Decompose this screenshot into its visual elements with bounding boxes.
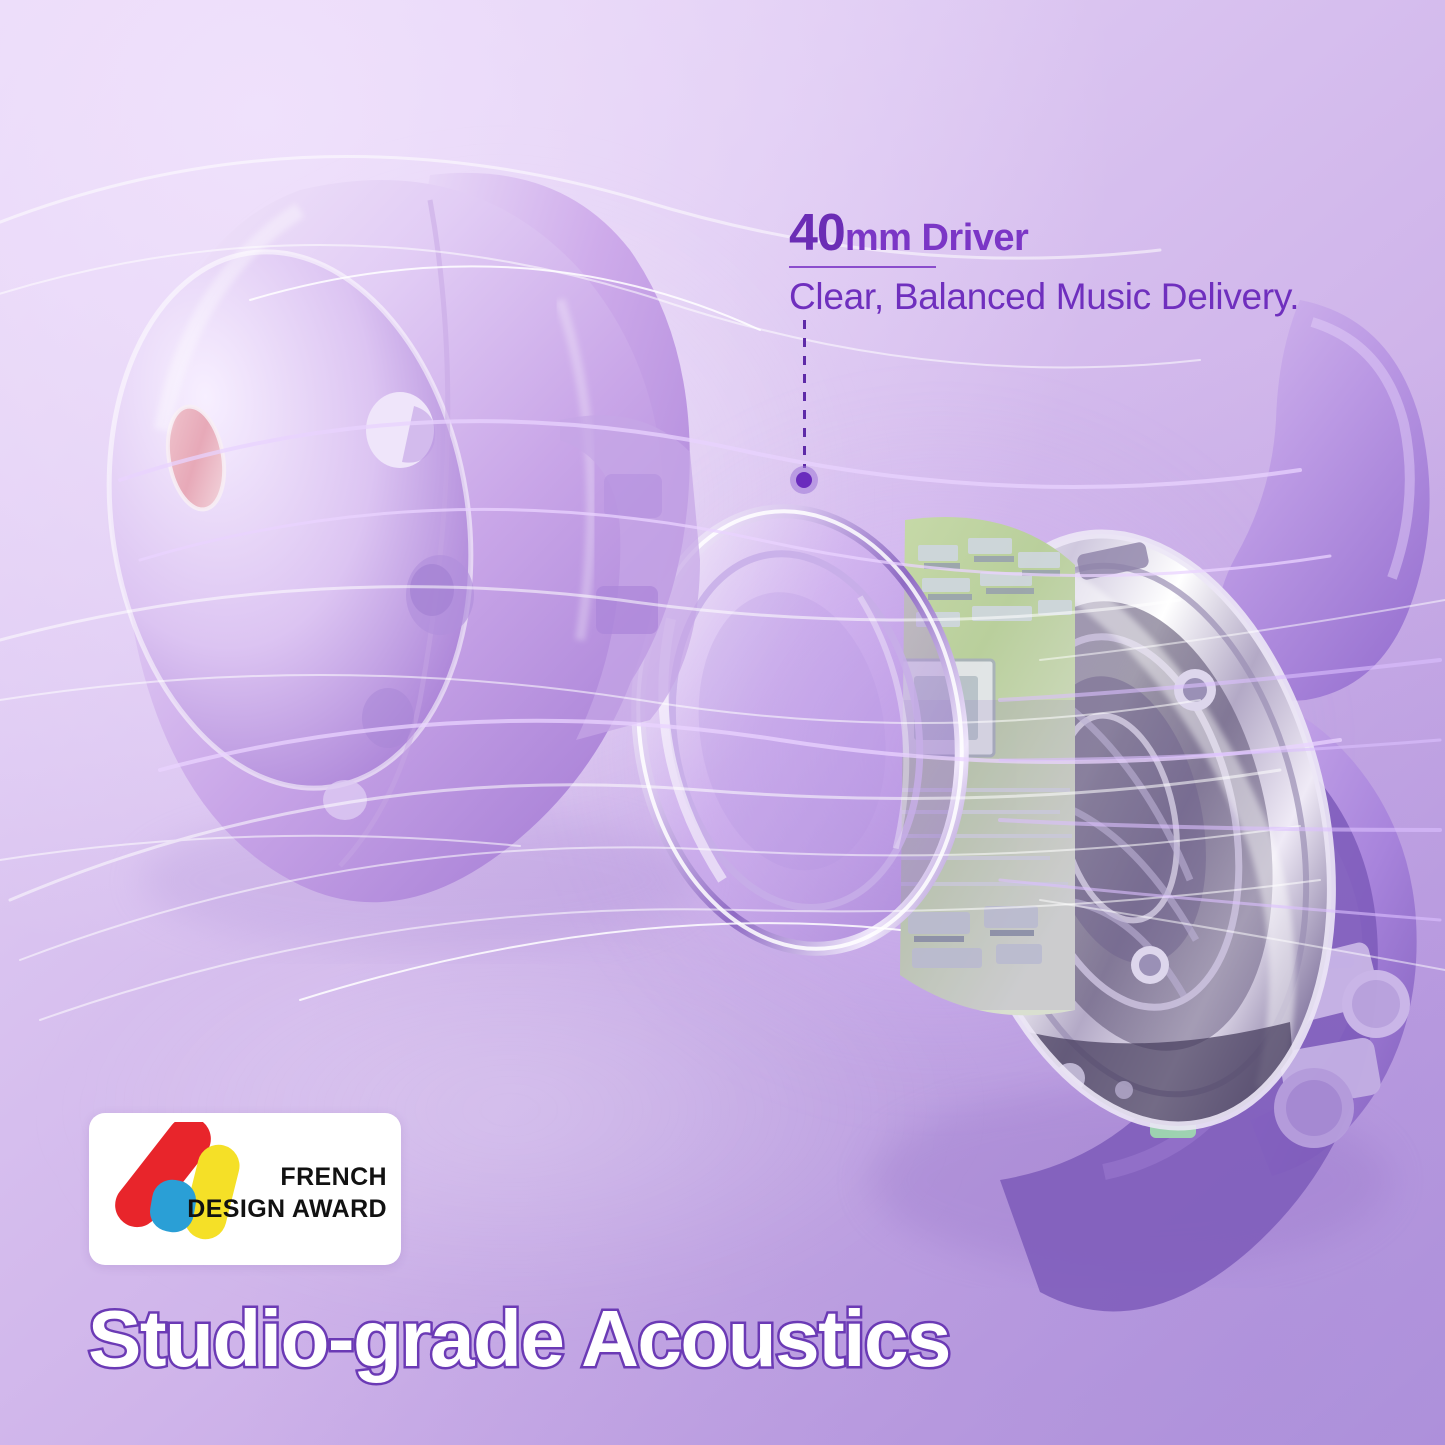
callout-divider (789, 266, 936, 268)
badge-line-1: FRENCH (187, 1161, 387, 1193)
award-badge: FRENCH DESIGN AWARD (89, 1113, 401, 1265)
callout-title: 40mm Driver (789, 207, 1389, 259)
page-title: Studio-grade Acoustics (0, 1293, 1445, 1385)
product-banner: 40mm Driver Clear, Balanced Music Delive… (0, 0, 1445, 1445)
badge-text: FRENCH DESIGN AWARD (187, 1161, 387, 1225)
badge-line-2: DESIGN AWARD (187, 1193, 387, 1225)
callout-value: 40 (789, 204, 845, 262)
callout-anchor-dot (796, 472, 812, 488)
driver-callout: 40mm Driver Clear, Balanced Music Delive… (789, 207, 1389, 318)
callout-noun: Driver (911, 217, 1028, 259)
callout-leader-line (803, 320, 806, 468)
callout-unit: mm (845, 217, 912, 259)
callout-subtitle: Clear, Balanced Music Delivery. (789, 276, 1389, 318)
